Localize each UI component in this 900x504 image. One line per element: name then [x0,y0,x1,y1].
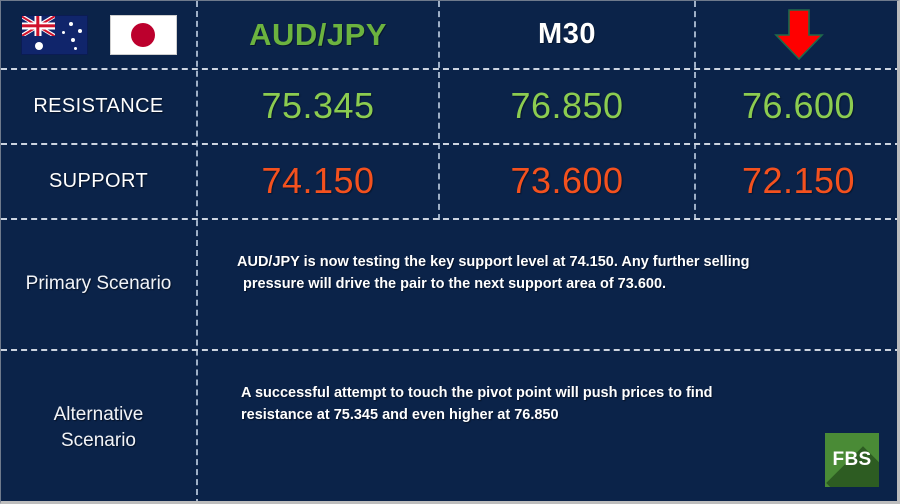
support-label-cell: SUPPORT [1,144,196,218]
alternative-scenario-line-2: resistance at 75.345 and even higher at … [241,404,861,426]
support-value-2-cell: 73.600 [440,144,694,218]
support-value-3-cell: 72.150 [696,144,900,218]
flags-container [1,1,196,69]
primary-scenario-line-1: AUD/JPY is now testing the key support l… [237,251,867,273]
down-arrow-icon [771,8,827,62]
forex-signal-board: AUD/JPY M30 RESISTANCE 75.345 76.850 76.… [0,0,900,504]
trend-direction-cell [696,1,900,68]
resistance-value-1-cell: 75.345 [198,69,438,143]
commonwealth-star [35,42,43,50]
alternative-scenario-label-cell: Alternative Scenario [1,350,196,504]
support-value-2: 73.600 [510,160,623,202]
resistance-value-3-cell: 76.600 [696,69,900,143]
resistance-label: RESISTANCE [33,94,163,118]
support-label: SUPPORT [49,169,148,193]
support-value-3: 72.150 [742,160,855,202]
primary-scenario-line-2: pressure will drive the pair to the next… [237,273,867,295]
timeframe-label: M30 [538,18,596,51]
resistance-value-2-cell: 76.850 [440,69,694,143]
alternative-scenario-label: Alternative Scenario [54,402,144,453]
currency-pair-cell: AUD/JPY [198,1,438,68]
star-delta-crucis [62,31,65,34]
japan-flag-icon [110,15,177,55]
resistance-label-cell: RESISTANCE [1,69,196,143]
alternative-scenario-label-line-2: Scenario [61,430,136,451]
star-epsilon-crucis [74,47,77,50]
primary-scenario-label-cell: Primary Scenario [1,219,196,349]
alternative-scenario-text: A successful attempt to touch the pivot … [241,382,861,427]
australia-flag-icon [21,15,88,55]
star-gamma-crucis [71,38,75,42]
support-value-1-cell: 74.150 [198,144,438,218]
japan-sun-disc [131,23,155,47]
primary-scenario-text: AUD/JPY is now testing the key support l… [237,251,867,296]
fbs-logo-text: FBS [833,449,872,471]
support-value-1: 74.150 [261,160,374,202]
resistance-value-3: 76.600 [742,85,855,127]
currency-pair-label: AUD/JPY [249,17,387,53]
resistance-value-2: 76.850 [510,85,623,127]
australia-union-jack [22,16,55,36]
fbs-logo: FBS [825,433,879,487]
star-alpha-crucis [69,22,73,26]
timeframe-cell: M30 [440,1,694,68]
primary-scenario-label: Primary Scenario [26,271,172,297]
alternative-scenario-line-1: A successful attempt to touch the pivot … [241,382,861,404]
star-beta-crucis [78,29,82,33]
resistance-value-1: 75.345 [261,85,374,127]
alternative-scenario-label-line-1: Alternative [54,404,144,425]
